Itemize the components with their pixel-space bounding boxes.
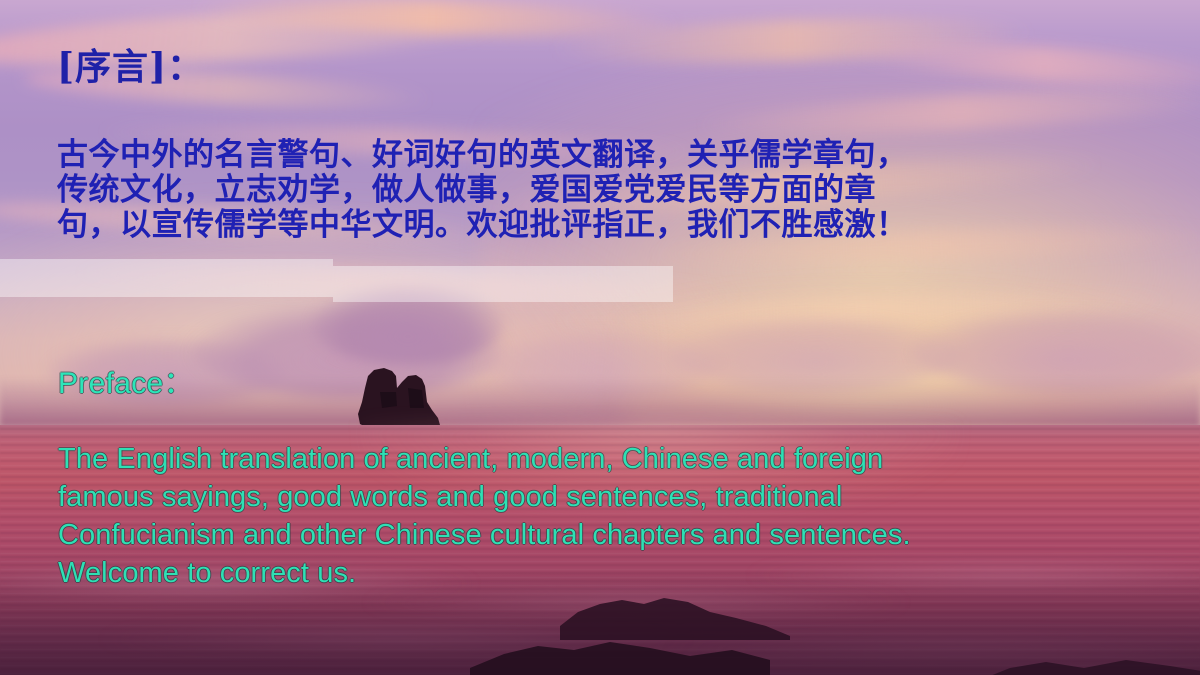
english-body-line: Welcome to correct us. [58, 554, 1118, 592]
english-body-line: The English translation of ancient, mode… [58, 440, 1118, 478]
foreground-rock-silhouette [980, 640, 1200, 675]
chinese-body-text: 古今中外的名言警句、好词好句的英文翻译，关乎儒学章句， 传统文化，立志劝学，做人… [57, 138, 1153, 243]
chinese-body-line: 古今中外的名言警句、好词好句的英文翻译，关乎儒学章句， [57, 138, 1153, 173]
translucent-overlay-band-left [0, 259, 333, 297]
chinese-heading: [序言]： [57, 48, 204, 88]
presentation-slide: [序言]： 古今中外的名言警句、好词好句的英文翻译，关乎儒学章句， 传统文化，立… [0, 0, 1200, 675]
chinese-body-line: 传统文化，立志劝学，做人做事，爱国爱党爱民等方面的章 [57, 173, 1153, 208]
translucent-overlay-band-right [333, 266, 673, 302]
chinese-body-line: 句，以宣传儒学等中华文明。欢迎批评指正，我们不胜感激！ [57, 208, 1153, 243]
english-body-text: The English translation of ancient, mode… [58, 440, 1118, 592]
english-heading: Preface： [58, 358, 194, 402]
foreground-rock-silhouette [470, 620, 770, 675]
english-body-line: Confucianism and other Chinese cultural … [58, 516, 1118, 554]
english-body-line: famous sayings, good words and good sent… [58, 478, 1118, 516]
